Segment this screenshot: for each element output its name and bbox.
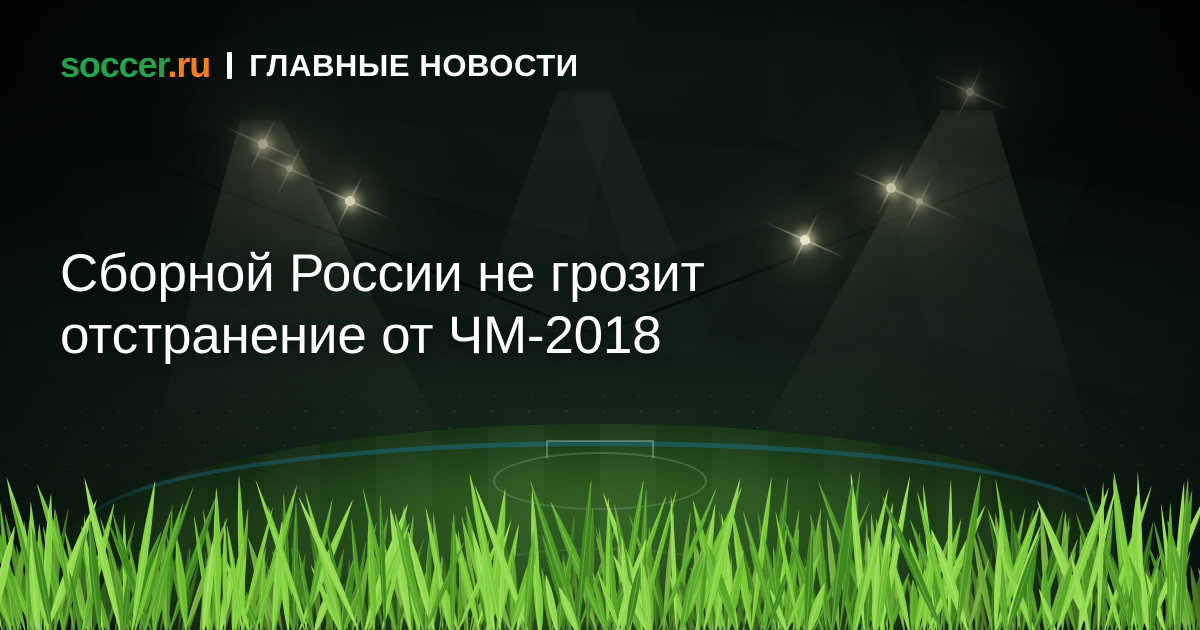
- brand-separator: [227, 52, 232, 79]
- page-title: Сборной России не грозитотстранение от Ч…: [60, 243, 870, 367]
- page-title-line-1: Сборной России не грозит: [60, 244, 705, 303]
- page-title-line-2: отстранение от ЧМ-2018: [60, 306, 661, 365]
- brand-bar: soccer.ru ГЛАВНЫЕ НОВОСТИ: [60, 47, 579, 83]
- card-content: soccer.ru ГЛАВНЫЕ НОВОСТИ Сборной России…: [0, 0, 1200, 630]
- news-share-card: soccer.ru ГЛАВНЫЕ НОВОСТИ Сборной России…: [0, 0, 1200, 630]
- section-kicker: ГЛАВНЫЕ НОВОСТИ: [249, 50, 578, 81]
- site-logo-tld: .ru: [168, 44, 211, 85]
- site-logo[interactable]: soccer.ru: [60, 47, 210, 83]
- site-logo-name: soccer: [60, 44, 168, 85]
